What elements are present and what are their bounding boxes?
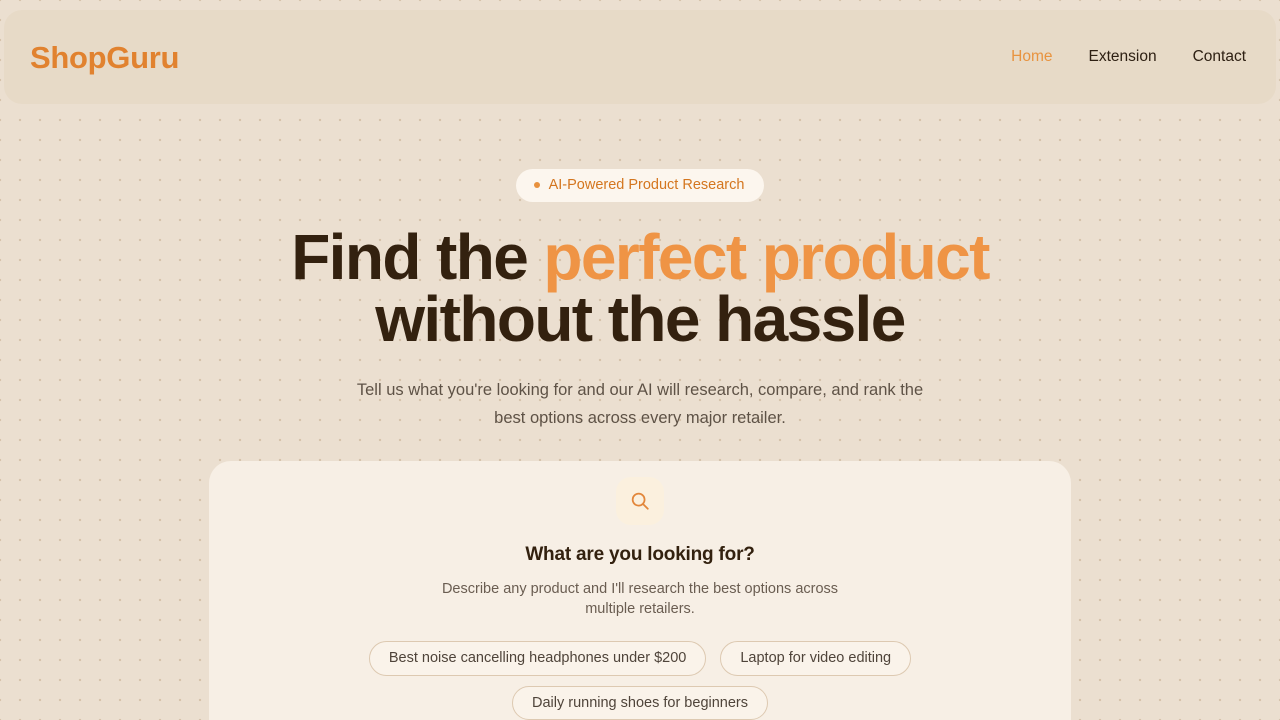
search-card-description: Describe any product and I'll research t… <box>440 579 840 619</box>
headline-line-2: without the hassle <box>375 283 904 355</box>
suggestion-chip-list: Best noise cancelling headphones under $… <box>209 641 1071 720</box>
suggestion-chip[interactable]: Daily running shoes for beginners <box>512 686 768 720</box>
hero-badge: AI-Powered Product Research <box>516 169 765 202</box>
nav-link-contact[interactable]: Contact <box>1193 49 1246 65</box>
main-navigation: Home Extension Contact <box>1011 49 1252 65</box>
search-card-title: What are you looking for? <box>209 545 1071 564</box>
search-icon <box>616 477 664 525</box>
nav-link-extension[interactable]: Extension <box>1089 49 1157 65</box>
hero-section: AI-Powered Product Research Find the per… <box>0 104 1280 432</box>
hero-badge-label: AI-Powered Product Research <box>549 178 745 193</box>
site-header: ShopGuru Home Extension Contact <box>4 10 1276 104</box>
hero-subtitle: Tell us what you're looking for and our … <box>340 376 940 432</box>
search-card: What are you looking for? Describe any p… <box>209 461 1071 720</box>
dot-icon <box>534 182 540 188</box>
suggestion-chip[interactable]: Laptop for video editing <box>720 641 911 676</box>
nav-link-home[interactable]: Home <box>1011 49 1052 65</box>
brand-logo[interactable]: ShopGuru <box>30 42 179 73</box>
page-title: Find the perfect product without the has… <box>0 226 1280 350</box>
suggestion-chip[interactable]: Best noise cancelling headphones under $… <box>369 641 706 676</box>
